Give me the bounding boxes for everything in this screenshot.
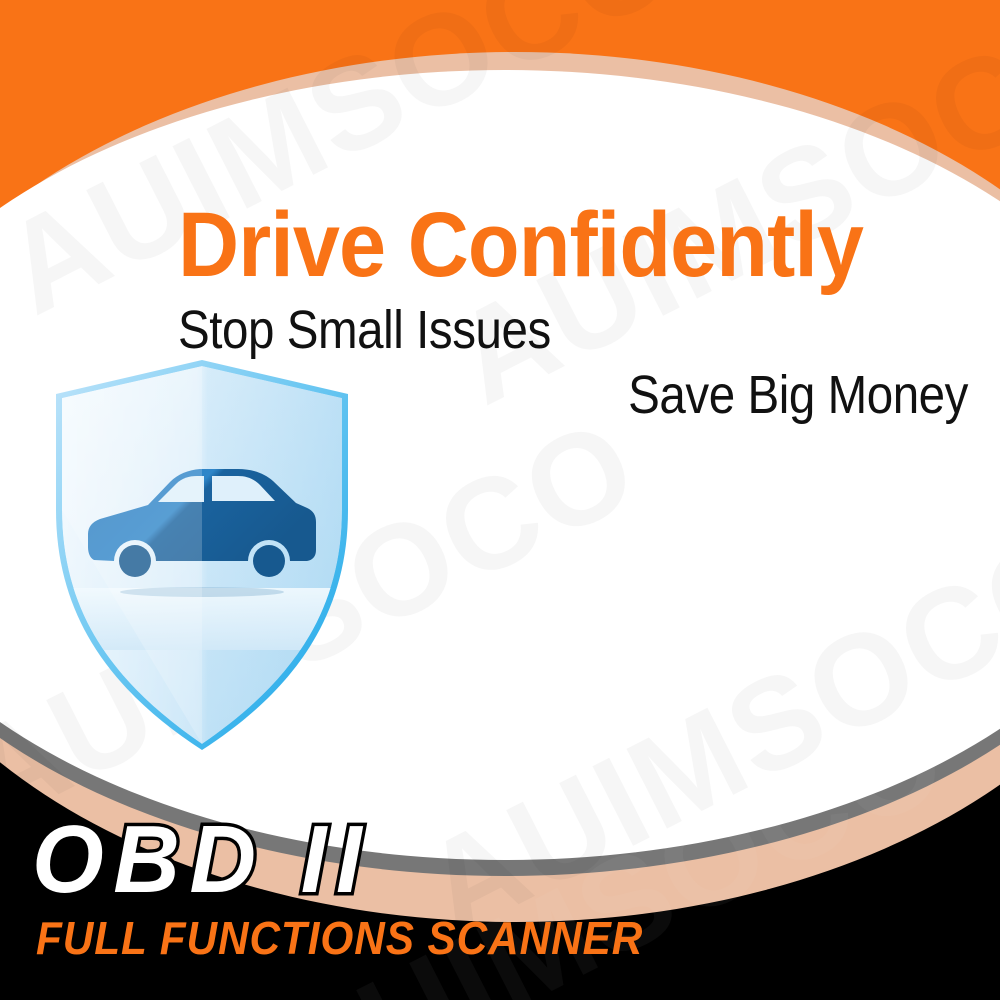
product-name: OBD II: [32, 812, 371, 908]
promo-banner: AUIMSOCO AUIMSOCO AUIMSOCO AUIMSOCO AUIM…: [0, 0, 1000, 1000]
subheadline-one: Stop Small Issues: [178, 302, 873, 359]
shield-emblem: [52, 360, 352, 750]
subheadline-two: Save Big Money: [273, 367, 968, 424]
product-tagline: FULL FUNCTIONS SCANNER: [36, 915, 643, 961]
page-title: Drive Confidently: [178, 200, 905, 290]
